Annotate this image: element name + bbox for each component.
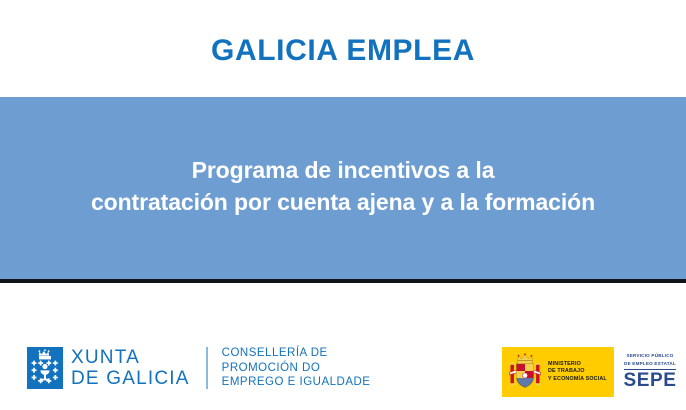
spain-coat-of-arms-icon: [508, 352, 542, 392]
conselleria-wordmark: CONSELLERÍA DE PROMOCIÓN DO EMPREGO E IG…: [222, 346, 371, 390]
ministerio-line-2: DE TRABAJO: [548, 368, 607, 375]
ministerio-line-3: Y ECONOMÍA SOCIAL: [548, 376, 607, 383]
subtitle-banner-inner: Programa de incentivos a la contratación…: [0, 154, 686, 222]
conselleria-line-1: CONSELLERÍA DE: [222, 346, 371, 361]
conselleria-line-2: PROMOCIÓN DO: [222, 361, 371, 376]
xunta-name-line-2: DE GALICIA: [71, 368, 190, 389]
sepe-line-1: SERVICIO PÚBLICO: [626, 353, 673, 359]
gobierno-logos-group: MINISTERIO DE TRABAJO Y ECONOMÍA SOCIAL …: [502, 347, 686, 397]
xunta-de-galicia-logo: XUNTA DE GALICIA CONSELLERÍA DE PROMOCIÓ…: [27, 346, 370, 390]
ministerio-trabajo-logo: MINISTERIO DE TRABAJO Y ECONOMÍA SOCIAL: [502, 347, 614, 397]
title-area: GALICIA EMPLEA: [0, 0, 686, 97]
galicia-coat-of-arms-icon: [27, 347, 63, 389]
xunta-name-line-1: XUNTA: [71, 347, 190, 368]
xunta-wordmark: XUNTA DE GALICIA: [71, 347, 190, 389]
ministerio-line-1: MINISTERIO: [548, 361, 607, 368]
ministerio-wordmark: MINISTERIO DE TRABAJO Y ECONOMÍA SOCIAL: [548, 361, 607, 383]
page-title: GALICIA EMPLEA: [211, 34, 475, 68]
sepe-line-2: DE EMPLEO ESTATAL: [624, 361, 676, 367]
subtitle-line-2: contratación por cuenta ajena y a la for…: [0, 186, 686, 218]
subtitle-banner: Programa de incentivos a la contratación…: [0, 97, 686, 283]
conselleria-line-3: EMPREGO E IGUALDADE: [222, 375, 371, 390]
sepe-acronym: SEPE: [623, 371, 676, 391]
slide-root: GALICIA EMPLEA Programa de incentivos a …: [0, 0, 686, 410]
subtitle-line-1: Programa de incentivos a la: [0, 154, 686, 186]
logo-divider: [206, 347, 208, 389]
footer-logo-bar: XUNTA DE GALICIA CONSELLERÍA DE PROMOCIÓ…: [0, 287, 686, 410]
sepe-logo: SERVICIO PÚBLICO DE EMPLEO ESTATAL SEPE: [614, 347, 686, 397]
